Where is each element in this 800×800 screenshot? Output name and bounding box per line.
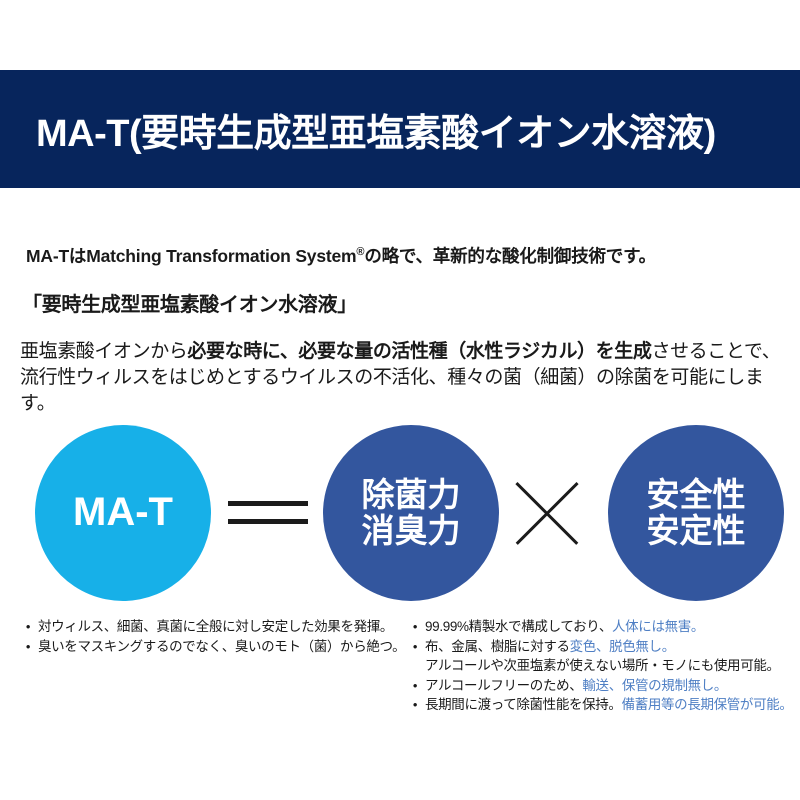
body-segment-2-bold: 必要な時に、必要な量の活性種（水性ラジカル）を生成 (187, 341, 651, 362)
circle-power-line-2: 消臭力 (362, 513, 461, 549)
list-item-label: アルコールや次亜塩素が使えない場所・モノにも使用可能。 (425, 657, 795, 676)
intro-text-before-mark: MA-TはMatching Transformation System (26, 246, 356, 266)
intro-text-after-mark: の略で、革新的な酸化制御技術です。 (364, 246, 656, 266)
bullet-section: • 対ウィルス、細菌、真菌に全般に対し安定した効果を発揮。 • 臭いをマスキング… (0, 618, 800, 728)
list-item: • 臭いをマスキングするのでなく、臭いのモト（菌）から絶つ。 (18, 638, 408, 657)
list-item: • 99.99%精製水で構成しており、人体には無害。 (405, 618, 795, 637)
list-item-plain-1: 長期間に渡って除菌性能を保持。 (425, 697, 622, 712)
list-item: • 布、金属、樹脂に対する変色、脱色無し。 (405, 638, 795, 657)
list-item-highlight-1: 備蓄用等の長期保管が可能。 (622, 697, 793, 712)
bullet-dot-icon: • (405, 618, 425, 637)
circle-safety-stability: 安全性 安定性 (608, 425, 784, 601)
list-item-label: 対ウィルス、細菌、真菌に全般に対し安定した効果を発揮。 (38, 618, 408, 637)
intro-description: MA-TはMatching Transformation System®の略で、… (26, 243, 656, 268)
list-item-highlight-1: 人体には (612, 619, 665, 634)
equals-bar-top (228, 501, 308, 506)
list-item-label: アルコールフリーのため、輸送、保管の規制無し。 (425, 677, 795, 696)
page-title: MA-T(要時生成型亜塩素酸イオン水溶液) (36, 102, 716, 157)
list-item-highlight-1: 変色、脱色無し。 (570, 639, 675, 654)
equals-bar-bottom (228, 519, 308, 524)
bullet-dot-icon: • (18, 638, 38, 657)
circle-safety-line-2: 安定性 (647, 513, 746, 549)
list-item-label: 布、金属、樹脂に対する変色、脱色無し。 (425, 638, 795, 657)
list-item-plain-1: 99.99%精製水で構成しており、 (425, 619, 612, 634)
list-item-label: 長期間に渡って除菌性能を保持。備蓄用等の長期保管が可能。 (425, 696, 795, 715)
list-item: • アルコールフリーのため、輸送、保管の規制無し。 (405, 677, 795, 696)
circle-sterilizing-deodorizing: 除菌力 消臭力 (323, 425, 499, 601)
list-item-label: 臭いをマスキングするのでなく、臭いのモト（菌）から絶つ。 (38, 638, 408, 657)
multiply-operator-icon (505, 482, 567, 544)
list-item-plain-1: 布、金属、樹脂に対する (425, 639, 570, 654)
list-item: • アルコールや次亜塩素が使えない場所・モノにも使用可能。 (405, 657, 795, 676)
equals-operator-icon (228, 497, 308, 531)
bullet-column-right: • 99.99%精製水で構成しており、人体には無害。 • 布、金属、樹脂に対する… (405, 618, 795, 716)
body-segment-1: 亜塩素酸イオンから (20, 341, 187, 362)
bullet-dot-icon: • (405, 677, 425, 696)
subtitle-heading: 「要時生成型亜塩素酸イオン水溶液」 (22, 288, 357, 317)
circle-power-line-1: 除菌力 (362, 477, 461, 513)
list-item-highlight-2: 無害。 (665, 619, 704, 634)
concept-diagram: MA-T 除菌力 消臭力 安全性 安定性 (0, 420, 800, 610)
list-item-label: 99.99%精製水で構成しており、人体には無害。 (425, 618, 795, 637)
list-item: • 対ウィルス、細菌、真菌に全般に対し安定した効果を発揮。 (18, 618, 408, 637)
circle-safety-line-1: 安全性 (647, 477, 746, 513)
bullet-column-left: • 対ウィルス、細菌、真菌に全般に対し安定した効果を発揮。 • 臭いをマスキング… (18, 618, 408, 657)
list-item-plain-1: アルコールフリーのため、 (425, 678, 582, 693)
list-item-highlight-1: 輸送、保管の規制無し。 (582, 678, 727, 693)
bullet-dot-icon: • (405, 638, 425, 657)
circle-mat-label: MA-T (73, 491, 173, 534)
list-item: • 長期間に渡って除菌性能を保持。備蓄用等の長期保管が可能。 (405, 696, 795, 715)
body-paragraph: 亜塩素酸イオンから必要な時に、必要な量の活性種（水性ラジカル）を生成させることで… (20, 339, 788, 417)
bullet-dot-icon: • (405, 696, 425, 715)
bullet-dot-icon: • (18, 618, 38, 637)
title-bar: MA-T(要時生成型亜塩素酸イオン水溶液) (0, 70, 800, 188)
circle-mat: MA-T (35, 425, 211, 601)
